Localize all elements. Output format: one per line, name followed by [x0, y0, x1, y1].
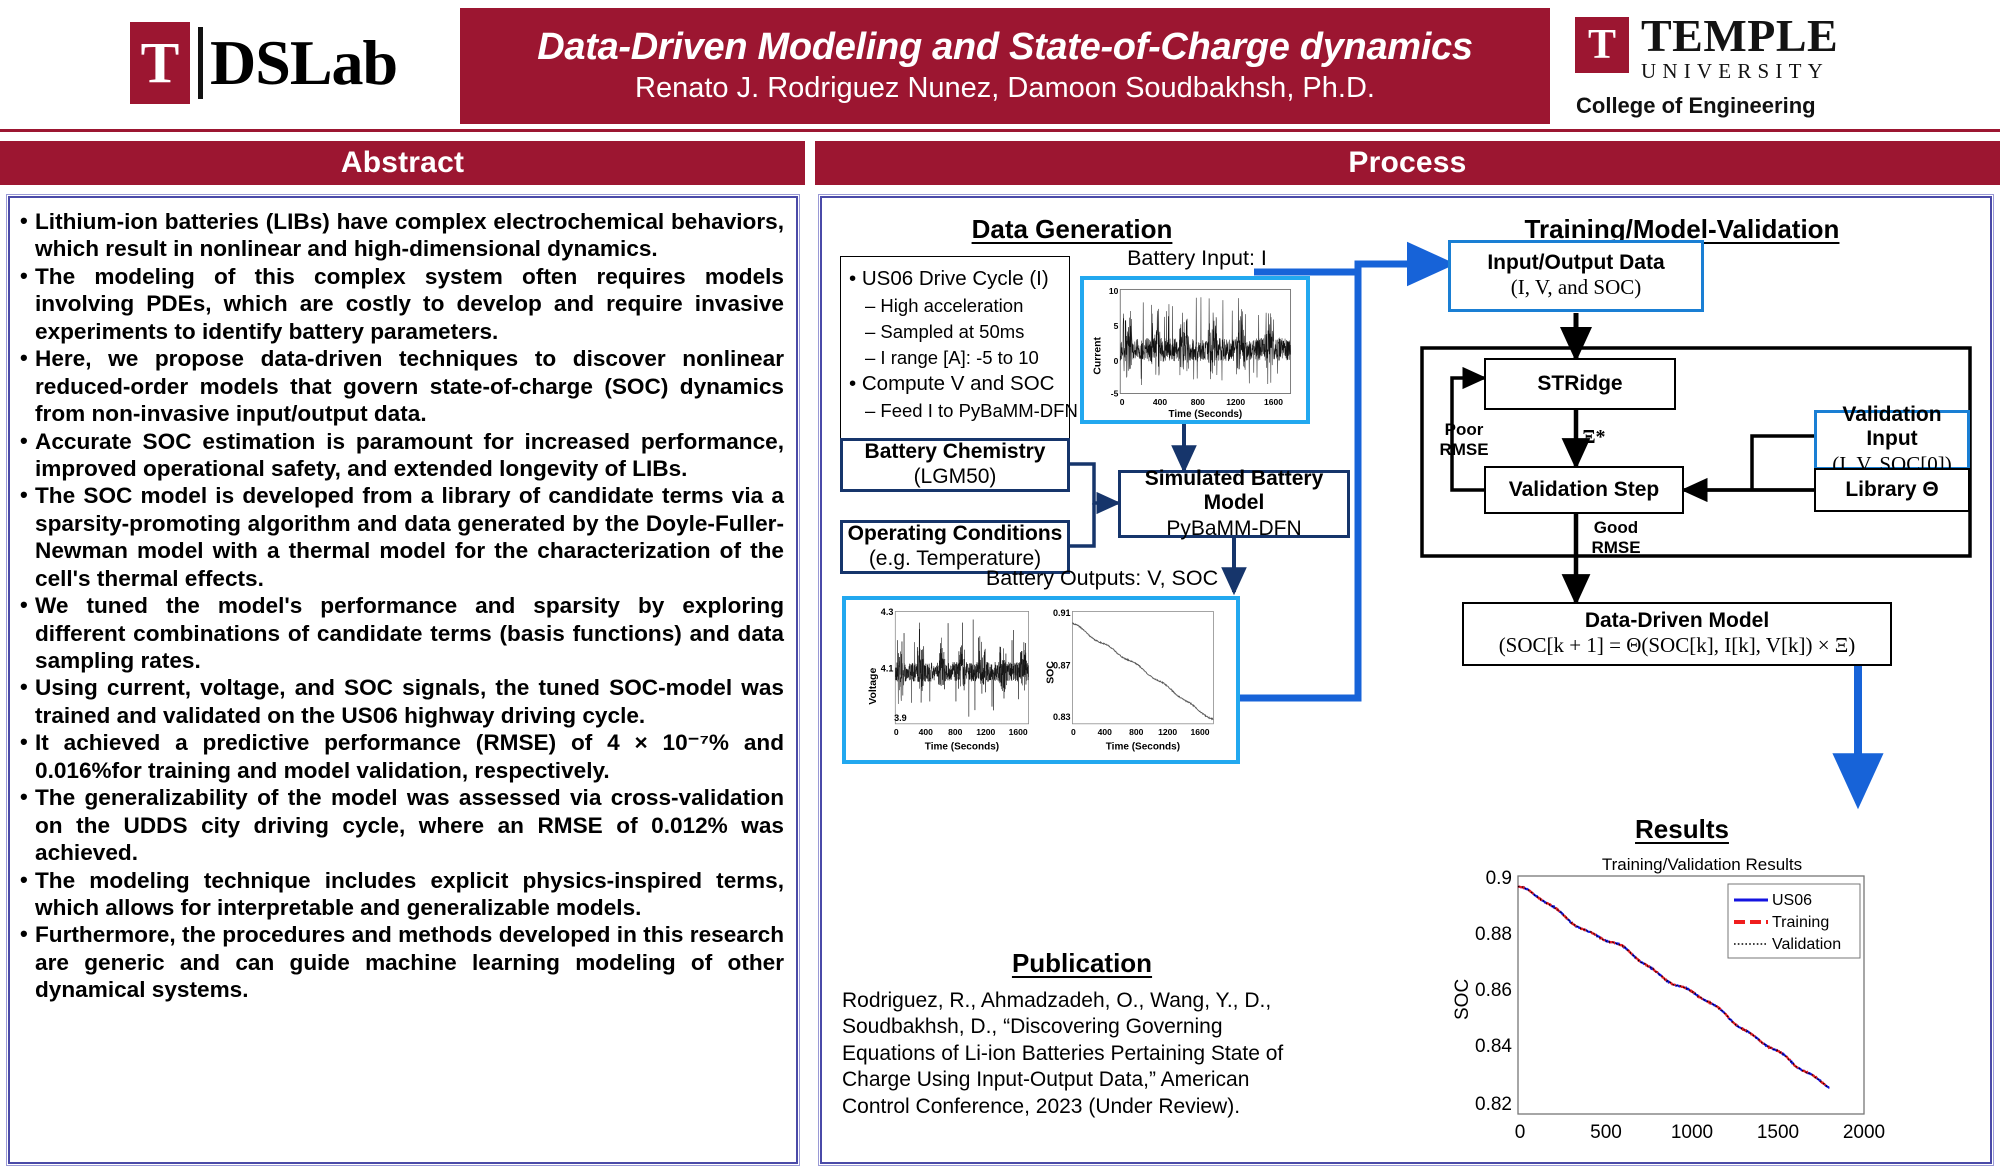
temple-mark-glyph: T	[1588, 24, 1616, 66]
abstract-section-header: Abstract	[0, 141, 805, 185]
svg-text:Time (Seconds): Time (Seconds)	[925, 742, 999, 753]
dslab-logo: T DSLab	[130, 18, 397, 108]
header-divider	[0, 129, 2000, 132]
datagen-subbullet: – Feed I to PyBaMM-DFN	[849, 398, 1063, 424]
datagen-subbullet: – High acceleration	[849, 293, 1063, 319]
library-label: Library Θ	[1845, 478, 1938, 502]
abstract-bullet: •The SOC model is developed from a libra…	[20, 482, 784, 592]
temple-t-glyph: T	[141, 34, 180, 92]
svg-text:1000: 1000	[1671, 1122, 1713, 1143]
abstract-bullet-text: It achieved a predictive performance (RM…	[35, 729, 784, 784]
bullet-icon: •	[20, 592, 35, 674]
results-heading: Results	[1432, 814, 1932, 845]
svg-text:0.9: 0.9	[1486, 868, 1512, 889]
bullet-icon: •	[20, 208, 35, 263]
datagen-subbullet: – Sampled at 50ms	[849, 319, 1063, 345]
validation-input-title: Validation Input	[1817, 403, 1967, 451]
stridge-box: STRidge	[1484, 358, 1676, 410]
abstract-bullet-text: The generalizability of the model was as…	[35, 784, 784, 866]
abstract-bullet: •Lithium-ion batteries (LIBs) have compl…	[20, 208, 784, 263]
abstract-bullet: •Accurate SOC estimation is paramount fo…	[20, 428, 784, 483]
svg-text:5: 5	[1114, 321, 1119, 331]
datagen-bullet: • Compute V and SOC	[849, 371, 1063, 398]
data-generation-bullets: • US06 Drive Cycle (I)– High acceleratio…	[840, 256, 1070, 456]
svg-text:0.83: 0.83	[1053, 712, 1071, 722]
svg-text:1600: 1600	[1264, 397, 1283, 407]
bullet-icon: •	[20, 921, 35, 1003]
battery-outputs-title: Battery Outputs: V, SOC	[952, 566, 1252, 591]
abstract-bullet-text: The modeling technique includes explicit…	[35, 867, 784, 922]
abstract-panel: •Lithium-ion batteries (LIBs) have compl…	[8, 196, 798, 1164]
bullet-icon: •	[20, 428, 35, 483]
svg-text:10: 10	[1109, 286, 1119, 296]
bullet-icon: •	[20, 784, 35, 866]
svg-text:1600: 1600	[1191, 727, 1210, 737]
svg-text:-5: -5	[1111, 388, 1119, 398]
battery-chemistry-value: (LGM50)	[914, 464, 997, 489]
validation-step-box: Validation Step	[1484, 466, 1684, 514]
battery-chemistry-box: Battery Chemistry (LGM50)	[840, 438, 1070, 492]
simulated-model-title: Simulated Battery Model	[1121, 467, 1347, 515]
svg-text:Time (Seconds): Time (Seconds)	[1169, 409, 1243, 420]
svg-text:Training/Validation Results: Training/Validation Results	[1602, 855, 1802, 874]
input-output-data-box: Input/Output Data (I, V, and SOC)	[1448, 240, 1704, 312]
svg-text:400: 400	[919, 727, 934, 737]
logo-divider	[198, 27, 203, 99]
svg-text:1200: 1200	[976, 727, 995, 737]
validation-step-label: Validation Step	[1509, 478, 1660, 502]
abstract-bullet: •Furthermore, the procedures and methods…	[20, 921, 784, 1003]
bullet-icon: •	[20, 729, 35, 784]
svg-text:0.84: 0.84	[1475, 1036, 1512, 1057]
college-name: College of Engineering	[1576, 93, 1955, 119]
page-title: Data-Driven Modeling and State-of-Charge…	[537, 27, 1472, 67]
validation-input-box: Validation Input (I, V, SOC[0])	[1814, 410, 1970, 470]
abstract-bullet-list: •Lithium-ion batteries (LIBs) have compl…	[10, 198, 796, 1004]
training-validation-results-chart: Training/Validation Results 0.9 0.88 0.8…	[1432, 852, 1932, 1152]
svg-text:0.82: 0.82	[1475, 1094, 1512, 1115]
abstract-bullet-text: Here, we propose data-driven techniques …	[35, 345, 784, 427]
svg-text:Validation: Validation	[1772, 936, 1841, 953]
publication-citation: Rodriguez, R., Ahmadzadeh, O., Wang, Y.,…	[842, 988, 1312, 1120]
svg-text:0: 0	[1071, 727, 1076, 737]
svg-text:800: 800	[1129, 727, 1144, 737]
bullet-icon: •	[20, 482, 35, 592]
abstract-bullet-text: Using current, voltage, and SOC signals,…	[35, 674, 784, 729]
abstract-bullet: •The modeling of this complex system oft…	[20, 263, 784, 345]
abstract-bullet: •Using current, voltage, and SOC signals…	[20, 674, 784, 729]
data-driven-equation: (SOC[k + 1] = Θ(SOC[k], I[k], V[k]) × Ξ)	[1499, 633, 1856, 658]
battery-input-chart-title: Battery Input: I	[1082, 246, 1312, 271]
temple-university-logo: T TEMPLE UNIVERSITY College of Engineeri…	[1575, 14, 1955, 119]
svg-text:1600: 1600	[1009, 727, 1028, 737]
bullet-icon: •	[20, 263, 35, 345]
svg-text:400: 400	[1098, 727, 1113, 737]
abstract-bullet-text: Lithium-ion batteries (LIBs) have comple…	[35, 208, 784, 263]
svg-text:400: 400	[1153, 397, 1167, 407]
simulated-model-value: PyBaMM-DFN	[1166, 516, 1301, 541]
datagen-subbullet: – I range [A]: -5 to 10	[849, 345, 1063, 371]
svg-text:500: 500	[1590, 1122, 1622, 1143]
process-panel: Data Generation • US06 Drive Cycle (I)– …	[820, 196, 1992, 1164]
publication-heading: Publication	[862, 948, 1302, 979]
input-output-title: Input/Output Data	[1487, 251, 1664, 275]
abstract-bullet: •Here, we propose data-driven techniques…	[20, 345, 784, 427]
abstract-bullet: •We tuned the model's performance and sp…	[20, 592, 784, 674]
abstract-bullet: •The generalizability of the model was a…	[20, 784, 784, 866]
operating-conditions-title: Operating Conditions	[848, 522, 1063, 546]
svg-text:Current: Current	[1092, 337, 1103, 375]
university-subtitle: UNIVERSITY	[1641, 59, 1838, 84]
poster-header: T DSLab Data-Driven Modeling and State-o…	[0, 0, 2000, 132]
svg-text:Training: Training	[1772, 914, 1829, 931]
battery-input-chart: 10 5 0 -5 0 400 800 1200 1600 Time (Seco…	[1080, 276, 1310, 424]
datagen-bullet: • US06 Drive Cycle (I)	[849, 266, 1063, 293]
data-driven-title: Data-Driven Model	[1585, 609, 1769, 633]
data-driven-model-box: Data-Driven Model (SOC[k + 1] = Θ(SOC[k]…	[1462, 602, 1892, 666]
process-section-header: Process	[815, 141, 2000, 185]
temple-t-icon: T	[130, 22, 190, 104]
svg-text:1500: 1500	[1757, 1122, 1799, 1143]
input-output-value: (I, V, and SOC)	[1511, 275, 1641, 300]
simulated-battery-model-box: Simulated Battery Model PyBaMM-DFN	[1118, 470, 1350, 538]
svg-text:0: 0	[894, 727, 899, 737]
svg-text:SOC: SOC	[1452, 979, 1473, 1020]
svg-text:1200: 1200	[1158, 727, 1177, 737]
svg-text:SOC: SOC	[1045, 661, 1056, 684]
dslab-wordmark: DSLab	[210, 31, 397, 95]
temple-shield-icon: T	[1575, 17, 1629, 73]
svg-text:0: 0	[1515, 1122, 1526, 1143]
xi-star-label: Ξ*	[1582, 426, 1606, 449]
abstract-bullet-text: Furthermore, the procedures and methods …	[35, 921, 784, 1003]
svg-text:0: 0	[1120, 397, 1125, 407]
svg-text:4.3: 4.3	[881, 607, 894, 617]
bullet-icon: •	[20, 867, 35, 922]
svg-text:2000: 2000	[1843, 1122, 1885, 1143]
abstract-bullet-text: We tuned the model's performance and spa…	[35, 592, 784, 674]
poster-root: T DSLab Data-Driven Modeling and State-o…	[0, 0, 2000, 1176]
stridge-label: STRidge	[1537, 372, 1622, 396]
svg-text:0: 0	[1114, 356, 1119, 366]
svg-text:3.9: 3.9	[894, 713, 907, 723]
abstract-bullet: •The modeling technique includes explici…	[20, 867, 784, 922]
title-band: Data-Driven Modeling and State-of-Charge…	[460, 8, 1550, 124]
poor-rmse-label: Poor RMSE	[1434, 420, 1494, 459]
battery-chemistry-title: Battery Chemistry	[865, 440, 1046, 464]
svg-text:0.91: 0.91	[1053, 608, 1071, 618]
svg-text:US06: US06	[1772, 892, 1812, 909]
bullet-icon: •	[20, 345, 35, 427]
svg-text:800: 800	[948, 727, 963, 737]
library-box: Library Θ	[1814, 468, 1970, 512]
abstract-bullet-text: The SOC model is developed from a librar…	[35, 482, 784, 592]
svg-text:4.1: 4.1	[881, 663, 894, 673]
svg-text:800: 800	[1191, 397, 1205, 407]
svg-text:Time (Seconds): Time (Seconds)	[1106, 742, 1180, 753]
bullet-icon: •	[20, 674, 35, 729]
author-list: Renato J. Rodriguez Nunez, Damoon Soudba…	[635, 72, 1375, 105]
university-name: TEMPLE	[1641, 14, 1838, 58]
battery-outputs-chart: 4.3 4.1 3.9 Voltage 0 400 800 1200 1600 …	[842, 596, 1240, 764]
data-generation-heading: Data Generation	[852, 214, 1292, 245]
svg-text:0.86: 0.86	[1475, 980, 1512, 1001]
abstract-bullet-text: The modeling of this complex system ofte…	[35, 263, 784, 345]
svg-text:Voltage: Voltage	[868, 668, 879, 705]
svg-text:0.88: 0.88	[1475, 924, 1512, 945]
svg-text:1200: 1200	[1226, 397, 1245, 407]
abstract-bullet: •It achieved a predictive performance (R…	[20, 729, 784, 784]
good-rmse-label: Good RMSE	[1584, 518, 1648, 557]
abstract-bullet-text: Accurate SOC estimation is paramount for…	[35, 428, 784, 483]
